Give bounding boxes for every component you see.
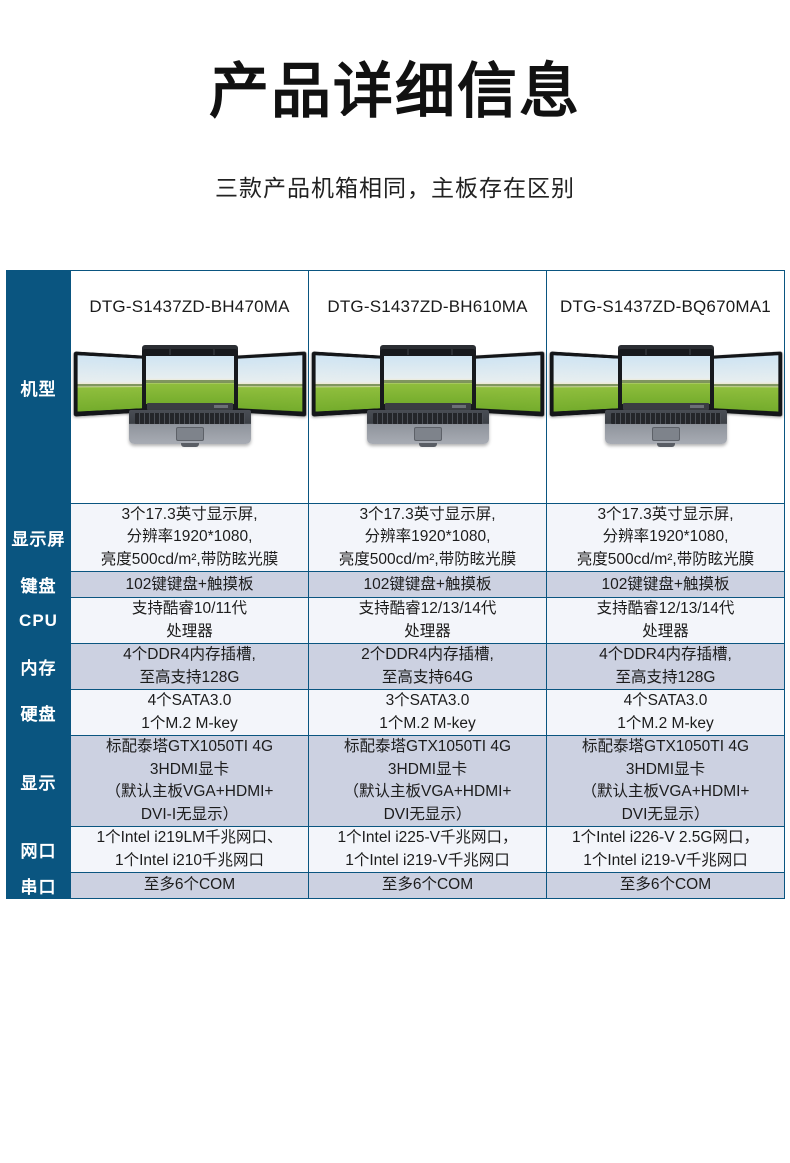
spec-cell-3-1: 支持酷睿12/13/14代处理器 xyxy=(309,598,547,644)
spec-line: 1个Intel i225-V千兆网口， xyxy=(309,827,546,849)
spec-line: 3个17.3英寸显示屏, xyxy=(547,504,784,526)
spec-line: 4个DDR4内存插槽, xyxy=(71,644,308,666)
spec-line: DVI无显示） xyxy=(547,804,784,826)
spec-table-container: 机型DTG-S1437ZD-BH470MADTG-S1437ZD-BH610MA… xyxy=(6,270,784,899)
spec-cell-1-2: 3个17.3英寸显示屏,分辨率1920*1080,亮度500cd/m²,带防眩光… xyxy=(547,504,785,572)
trackpad-icon xyxy=(414,427,442,441)
carry-handle-icon xyxy=(169,345,215,355)
row-label-1: 显示屏 xyxy=(7,504,71,572)
spec-cell-1-1: 3个17.3英寸显示屏,分辨率1920*1080,亮度500cd/m²,带防眩光… xyxy=(309,504,547,572)
spec-line: （默认主板VGA+HDMI+ xyxy=(547,781,784,803)
spec-line: 支持酷睿10/11代 xyxy=(71,598,308,620)
spec-line: 3HDMI显卡 xyxy=(309,759,546,781)
spec-line: 至高支持128G xyxy=(71,667,308,689)
spec-line: 102键键盘+触摸板 xyxy=(547,574,784,596)
keyboard-icon xyxy=(373,413,483,424)
model-name-2: DTG-S1437ZD-BQ670MA1 xyxy=(560,297,771,317)
chassis-base xyxy=(605,410,727,444)
keyboard-icon xyxy=(135,413,245,424)
spec-line: 1个M.2 M-key xyxy=(309,713,546,735)
table-row: 串口至多6个COM至多6个COM至多6个COM xyxy=(7,873,785,899)
spec-line: 2个DDR4内存插槽, xyxy=(309,644,546,666)
spec-line: 至高支持64G xyxy=(309,667,546,689)
row-label-8: 串口 xyxy=(7,873,71,899)
spec-line: 1个M.2 M-key xyxy=(71,713,308,735)
spec-cell-1-0: 3个17.3英寸显示屏,分辨率1920*1080,亮度500cd/m²,带防眩光… xyxy=(71,504,309,572)
row-label-5: 硬盘 xyxy=(7,690,71,736)
spec-line: 1个Intel i210千兆网口 xyxy=(71,850,308,872)
spec-line: 3HDMI显卡 xyxy=(547,759,784,781)
spec-line: 处理器 xyxy=(71,621,308,643)
optical-bay-icon xyxy=(147,403,233,410)
optical-bay-icon xyxy=(385,403,471,410)
spec-line: 支持酷睿12/13/14代 xyxy=(547,598,784,620)
spec-cell-6-2: 标配泰塔GTX1050TI 4G3HDMI显卡（默认主板VGA+HDMI+DVI… xyxy=(547,736,785,827)
table-row: 显示屏3个17.3英寸显示屏,分辨率1920*1080,亮度500cd/m²,带… xyxy=(7,504,785,572)
row-label-6: 显示 xyxy=(7,736,71,827)
table-row: 硬盘4个SATA3.01个M.2 M-key3个SATA3.01个M.2 M-k… xyxy=(7,690,785,736)
spec-line: 102键键盘+触摸板 xyxy=(71,574,308,596)
spec-line: 1个Intel i219-V千兆网口 xyxy=(547,850,784,872)
spec-line: 标配泰塔GTX1050TI 4G xyxy=(309,736,546,758)
spec-line: 4个DDR4内存插槽, xyxy=(547,644,784,666)
row-label-2: 键盘 xyxy=(7,572,71,598)
spec-line: 1个Intel i219-V千兆网口 xyxy=(309,850,546,872)
spec-cell-6-1: 标配泰塔GTX1050TI 4G3HDMI显卡（默认主板VGA+HDMI+DVI… xyxy=(309,736,547,827)
chassis-base xyxy=(129,410,251,444)
spec-line: （默认主板VGA+HDMI+ xyxy=(309,781,546,803)
spec-line: 处理器 xyxy=(547,621,784,643)
spec-cell-7-1: 1个Intel i225-V千兆网口，1个Intel i219-V千兆网口 xyxy=(309,827,547,873)
spec-cell-2-0: 102键键盘+触摸板 xyxy=(71,572,309,598)
spec-cell-3-0: 支持酷睿10/11代处理器 xyxy=(71,598,309,644)
spec-line: 4个SATA3.0 xyxy=(71,690,308,712)
spec-line: 标配泰塔GTX1050TI 4G xyxy=(71,736,308,758)
spec-cell-5-2: 4个SATA3.01个M.2 M-key xyxy=(547,690,785,736)
model-name-1: DTG-S1437ZD-BH610MA xyxy=(327,297,527,317)
spec-cell-4-1: 2个DDR4内存插槽,至高支持64G xyxy=(309,644,547,690)
model-cell-0: DTG-S1437ZD-BH470MA xyxy=(71,271,309,504)
spec-line: 1个M.2 M-key xyxy=(547,713,784,735)
spec-cell-8-0: 至多6个COM xyxy=(71,873,309,899)
spec-line: 3个SATA3.0 xyxy=(309,690,546,712)
page-subtitle: 三款产品机箱相同，主板存在区别 xyxy=(0,125,790,203)
product-image xyxy=(557,345,775,453)
keyboard-icon xyxy=(611,413,721,424)
spec-line: DVI-I无显示） xyxy=(71,804,308,826)
spec-line: 标配泰塔GTX1050TI 4G xyxy=(547,736,784,758)
table-row: 键盘102键键盘+触摸板102键键盘+触摸板102键键盘+触摸板 xyxy=(7,572,785,598)
product-spec-table: 机型DTG-S1437ZD-BH470MADTG-S1437ZD-BH610MA… xyxy=(6,270,785,899)
spec-line: 3HDMI显卡 xyxy=(71,759,308,781)
row-label-0: 机型 xyxy=(7,271,71,504)
model-cell-1: DTG-S1437ZD-BH610MA xyxy=(309,271,547,504)
table-row: 显示标配泰塔GTX1050TI 4G3HDMI显卡（默认主板VGA+HDMI+D… xyxy=(7,736,785,827)
spec-line: 亮度500cd/m²,带防眩光膜 xyxy=(547,549,784,571)
spec-line: 亮度500cd/m²,带防眩光膜 xyxy=(309,549,546,571)
table-row: 网口1个Intel i219LM千兆网口、1个Intel i210千兆网口1个I… xyxy=(7,827,785,873)
spec-line: 处理器 xyxy=(309,621,546,643)
spec-cell-5-0: 4个SATA3.01个M.2 M-key xyxy=(71,690,309,736)
spec-line: 至高支持128G xyxy=(547,667,784,689)
base-foot xyxy=(419,443,437,447)
trackpad-icon xyxy=(176,427,204,441)
spec-cell-7-0: 1个Intel i219LM千兆网口、1个Intel i210千兆网口 xyxy=(71,827,309,873)
spec-line: 支持酷睿12/13/14代 xyxy=(309,598,546,620)
model-cell-2: DTG-S1437ZD-BQ670MA1 xyxy=(547,271,785,504)
spec-line: 1个Intel i219LM千兆网口、 xyxy=(71,827,308,849)
spec-line: 4个SATA3.0 xyxy=(547,690,784,712)
row-label-3: CPU xyxy=(7,598,71,644)
spec-cell-8-1: 至多6个COM xyxy=(309,873,547,899)
optical-bay-icon xyxy=(623,403,709,410)
base-foot xyxy=(181,443,199,447)
spec-line: 分辨率1920*1080, xyxy=(309,526,546,548)
page-title: 产品详细信息 xyxy=(0,58,790,125)
trackpad-icon xyxy=(652,427,680,441)
spec-line: DVI无显示） xyxy=(309,804,546,826)
row-label-4: 内存 xyxy=(7,644,71,690)
spec-line: 分辨率1920*1080, xyxy=(547,526,784,548)
carry-handle-icon xyxy=(645,345,691,355)
page-header: 产品详细信息 三款产品机箱相同，主板存在区别 xyxy=(0,0,790,203)
spec-line: 1个Intel i226-V 2.5G网口， xyxy=(547,827,784,849)
spec-line: 至多6个COM xyxy=(71,874,308,896)
spec-line: 至多6个COM xyxy=(309,874,546,896)
spec-cell-3-2: 支持酷睿12/13/14代处理器 xyxy=(547,598,785,644)
spec-line: 分辨率1920*1080, xyxy=(71,526,308,548)
table-row: CPU支持酷睿10/11代处理器支持酷睿12/13/14代处理器支持酷睿12/1… xyxy=(7,598,785,644)
product-image xyxy=(81,345,299,453)
spec-line: 102键键盘+触摸板 xyxy=(309,574,546,596)
spec-cell-8-2: 至多6个COM xyxy=(547,873,785,899)
table-row: 内存4个DDR4内存插槽,至高支持128G2个DDR4内存插槽,至高支持64G4… xyxy=(7,644,785,690)
chassis-base xyxy=(367,410,489,444)
row-label-7: 网口 xyxy=(7,827,71,873)
spec-cell-2-2: 102键键盘+触摸板 xyxy=(547,572,785,598)
base-foot xyxy=(657,443,675,447)
spec-line: 亮度500cd/m²,带防眩光膜 xyxy=(71,549,308,571)
spec-cell-4-0: 4个DDR4内存插槽,至高支持128G xyxy=(71,644,309,690)
carry-handle-icon xyxy=(407,345,453,355)
product-image xyxy=(319,345,537,453)
spec-cell-2-1: 102键键盘+触摸板 xyxy=(309,572,547,598)
spec-line: （默认主板VGA+HDMI+ xyxy=(71,781,308,803)
spec-cell-4-2: 4个DDR4内存插槽,至高支持128G xyxy=(547,644,785,690)
spec-line: 3个17.3英寸显示屏, xyxy=(71,504,308,526)
spec-cell-7-2: 1个Intel i226-V 2.5G网口，1个Intel i219-V千兆网口 xyxy=(547,827,785,873)
spec-line: 3个17.3英寸显示屏, xyxy=(309,504,546,526)
spec-cell-6-0: 标配泰塔GTX1050TI 4G3HDMI显卡（默认主板VGA+HDMI+DVI… xyxy=(71,736,309,827)
table-row: 机型DTG-S1437ZD-BH470MADTG-S1437ZD-BH610MA… xyxy=(7,271,785,504)
model-name-0: DTG-S1437ZD-BH470MA xyxy=(89,297,289,317)
spec-line: 至多6个COM xyxy=(547,874,784,896)
spec-cell-5-1: 3个SATA3.01个M.2 M-key xyxy=(309,690,547,736)
